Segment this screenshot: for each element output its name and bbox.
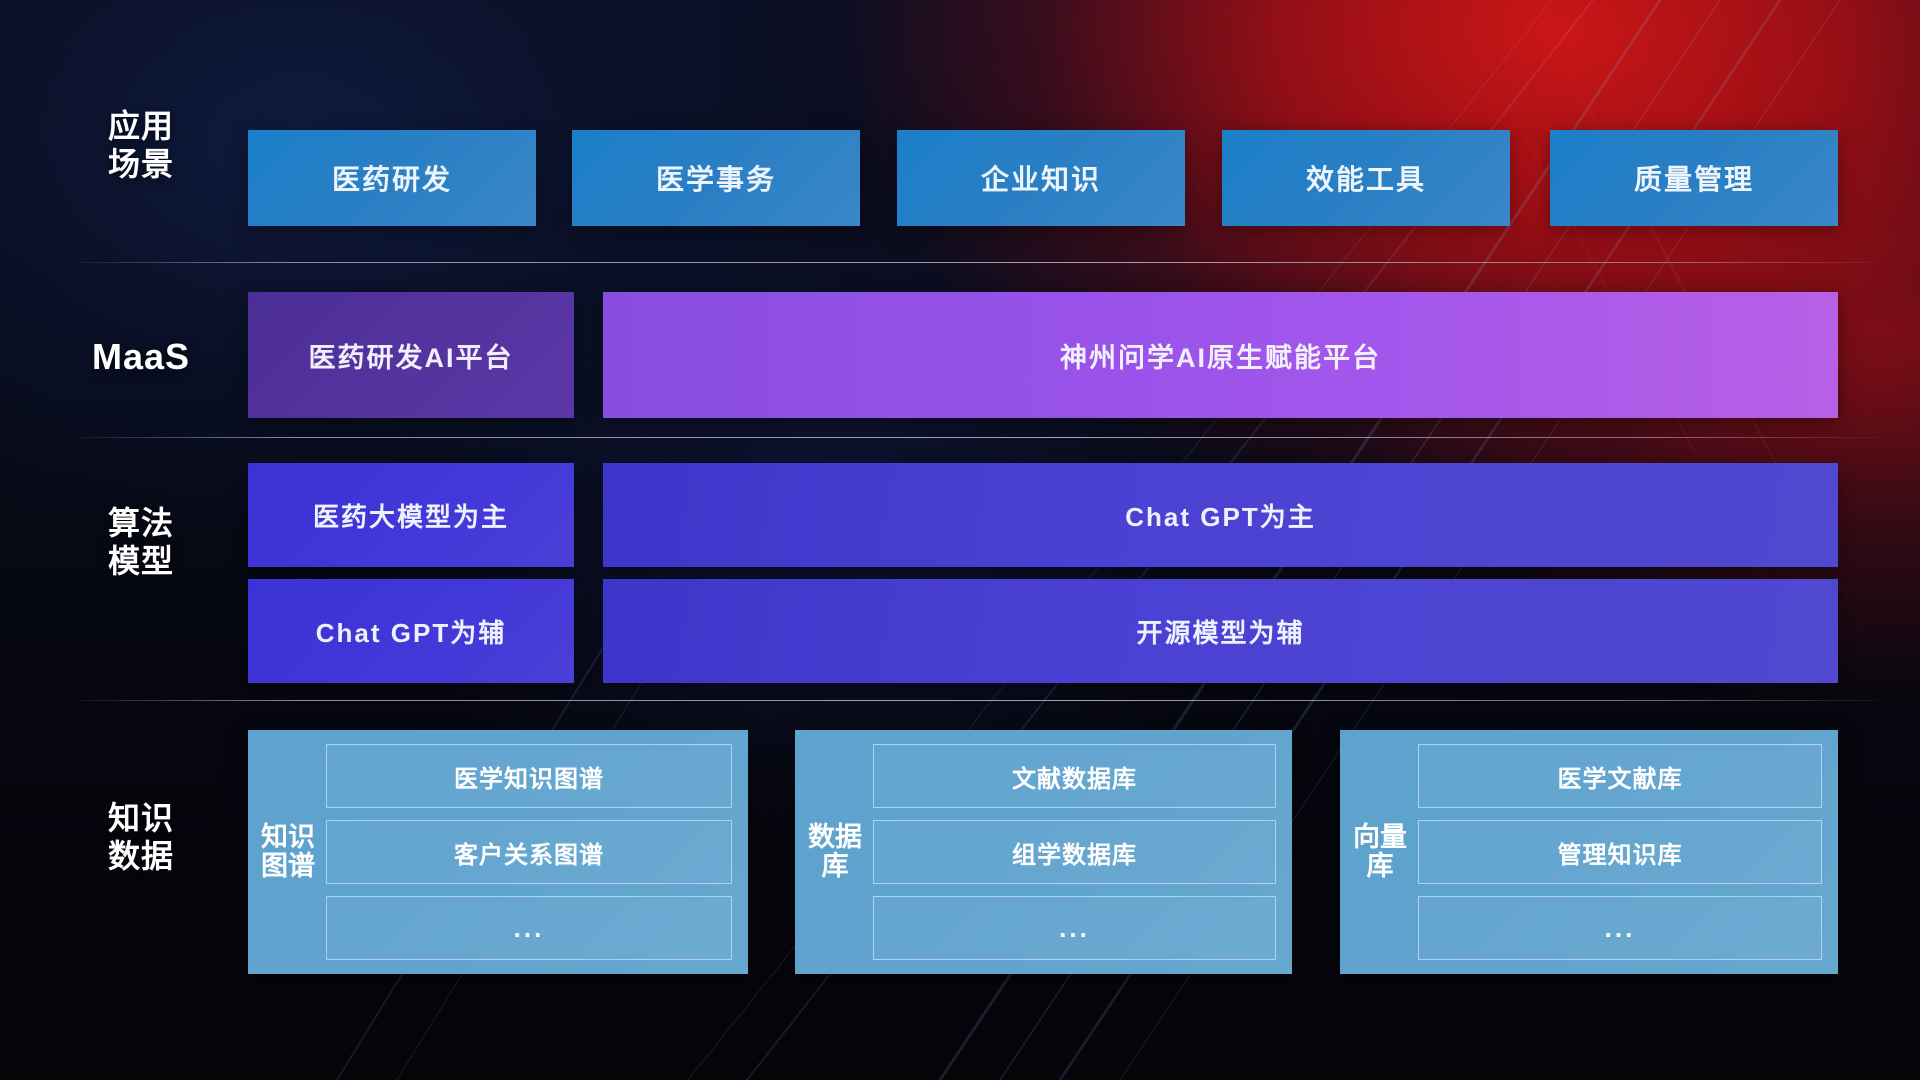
algo-box-chatgpt-secondary[interactable]: Chat GPT为辅 — [248, 579, 574, 683]
knowledge-item[interactable]: 客户关系图谱 — [326, 820, 732, 884]
maas-box-shenzhou-wenxue-platform[interactable]: 神州问学AI原生赋能平台 — [603, 292, 1838, 418]
app-box-quality-management[interactable]: 质量管理 — [1550, 130, 1838, 226]
divider-applications-maas — [76, 262, 1878, 263]
knowledge-item[interactable]: 管理知识库 — [1418, 820, 1822, 884]
row-label-algorithms-line1: 算法 — [76, 505, 206, 543]
architecture-diagram: 应用 场景 医药研发 医学事务 企业知识 效能工具 质量管理 MaaS 医药研发… — [0, 0, 1920, 1080]
algo-box-opensource-secondary[interactable]: 开源模型为辅 — [603, 579, 1838, 683]
knowledge-card-vector-store[interactable]: 向量库 医学文献库 管理知识库 ... — [1340, 730, 1838, 974]
row-label-maas: MaaS — [76, 336, 206, 378]
knowledge-item[interactable]: 组学数据库 — [873, 820, 1276, 884]
row-label-knowledge-line1: 知识 — [76, 800, 206, 838]
row-label-applications: 应用 场景 — [76, 108, 206, 184]
knowledge-item-more[interactable]: ... — [873, 896, 1276, 960]
app-box-enterprise-knowledge[interactable]: 企业知识 — [897, 130, 1185, 226]
maas-box-label: 神州问学AI原生赋能平台 — [1060, 336, 1381, 375]
knowledge-item-more[interactable]: ... — [1418, 896, 1822, 960]
divider-maas-algorithms — [76, 437, 1878, 438]
knowledge-item[interactable]: 文献数据库 — [873, 744, 1276, 808]
row-label-algorithms: 算法 模型 — [76, 505, 206, 581]
app-box-efficiency-tools[interactable]: 效能工具 — [1222, 130, 1510, 226]
algo-box-pharma-llm-primary[interactable]: 医药大模型为主 — [248, 463, 574, 567]
row-label-knowledge: 知识 数据 — [76, 800, 206, 876]
app-box-medicine-rd[interactable]: 医药研发 — [248, 130, 536, 226]
app-box-label: 医学事务 — [656, 158, 776, 198]
row-label-maas-line1: MaaS — [76, 336, 206, 378]
algo-box-label: 医药大模型为主 — [313, 497, 509, 534]
app-box-label: 医药研发 — [332, 158, 452, 198]
knowledge-card-title: 知识图谱 — [260, 823, 316, 881]
knowledge-card-database[interactable]: 数据库 文献数据库 组学数据库 ... — [795, 730, 1292, 974]
row-label-knowledge-line2: 数据 — [76, 838, 206, 876]
divider-algorithms-knowledge — [76, 700, 1878, 701]
row-label-applications-line1: 应用 — [76, 108, 206, 146]
knowledge-item[interactable]: 医学文献库 — [1418, 744, 1822, 808]
maas-box-pharma-ai-platform[interactable]: 医药研发AI平台 — [248, 292, 574, 418]
algo-box-label: Chat GPT为辅 — [316, 613, 506, 650]
algo-box-label: Chat GPT为主 — [1125, 497, 1315, 534]
knowledge-card-items: 医学文献库 管理知识库 ... — [1418, 744, 1822, 960]
knowledge-card-title: 向量库 — [1352, 823, 1408, 881]
row-label-applications-line2: 场景 — [76, 146, 206, 184]
knowledge-card-items: 医学知识图谱 客户关系图谱 ... — [326, 744, 732, 960]
algo-box-chatgpt-primary[interactable]: Chat GPT为主 — [603, 463, 1838, 567]
knowledge-item[interactable]: 医学知识图谱 — [326, 744, 732, 808]
app-box-label: 效能工具 — [1306, 158, 1426, 198]
row-label-algorithms-line2: 模型 — [76, 543, 206, 581]
knowledge-item-more[interactable]: ... — [326, 896, 732, 960]
maas-box-label: 医药研发AI平台 — [309, 336, 514, 375]
knowledge-card-title: 数据库 — [807, 823, 863, 881]
app-box-medical-affairs[interactable]: 医学事务 — [572, 130, 860, 226]
app-box-label: 企业知识 — [981, 158, 1101, 198]
algo-box-label: 开源模型为辅 — [1136, 613, 1304, 650]
knowledge-card-items: 文献数据库 组学数据库 ... — [873, 744, 1276, 960]
knowledge-card-knowledge-graph[interactable]: 知识图谱 医学知识图谱 客户关系图谱 ... — [248, 730, 748, 974]
app-box-label: 质量管理 — [1634, 158, 1754, 198]
